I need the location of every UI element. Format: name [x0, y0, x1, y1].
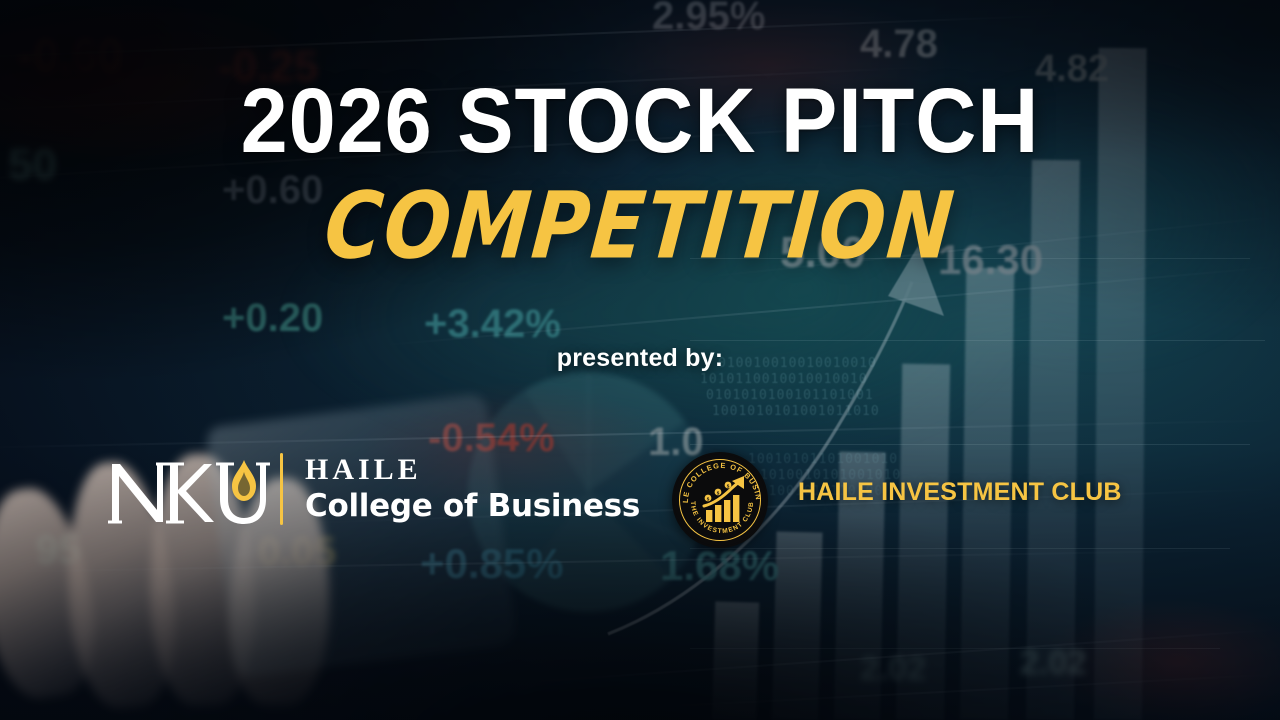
nku-haile-logo-lockup: HAILE College of Business [108, 452, 640, 526]
presented-by-label: presented by: [0, 344, 1280, 373]
poster-content: 2026 STOCK PITCH COMPETITION presented b… [0, 0, 1280, 720]
badge-emblem-icon: HAILE COLLEGE OF BUSINESS THE INVESTMENT… [674, 454, 770, 550]
stock-pitch-poster: 010010010010010010 1010110010010010010 0… [0, 0, 1280, 720]
page-title: 2026 STOCK PITCH [51, 76, 1229, 166]
nku-letters-icon [108, 454, 274, 526]
investment-club-name: HAILE INVESTMENT CLUB [798, 478, 1122, 507]
nku-wordmark [108, 452, 274, 526]
svg-text:THE INVESTMENT CLUB: THE INVESTMENT CLUB [689, 501, 755, 535]
haile-label: HAILE [305, 454, 640, 486]
svg-text:$: $ [707, 496, 710, 501]
svg-text:HAILE COLLEGE OF BUSINESS: HAILE COLLEGE OF BUSINESS [674, 454, 763, 503]
college-name-block: HAILE College of Business [305, 454, 640, 523]
logo-divider [280, 453, 283, 525]
college-label: College of Business [305, 489, 640, 524]
svg-text:$: $ [717, 490, 720, 495]
badge-top-arc-text: HAILE COLLEGE OF BUSINESS [674, 454, 763, 503]
svg-text:$: $ [727, 483, 730, 488]
investment-club-badge: HAILE COLLEGE OF BUSINESS THE INVESTMENT… [672, 452, 768, 548]
badge-bottom-arc-text: THE INVESTMENT CLUB [689, 501, 755, 535]
page-subtitle: COMPETITION [0, 181, 1280, 273]
